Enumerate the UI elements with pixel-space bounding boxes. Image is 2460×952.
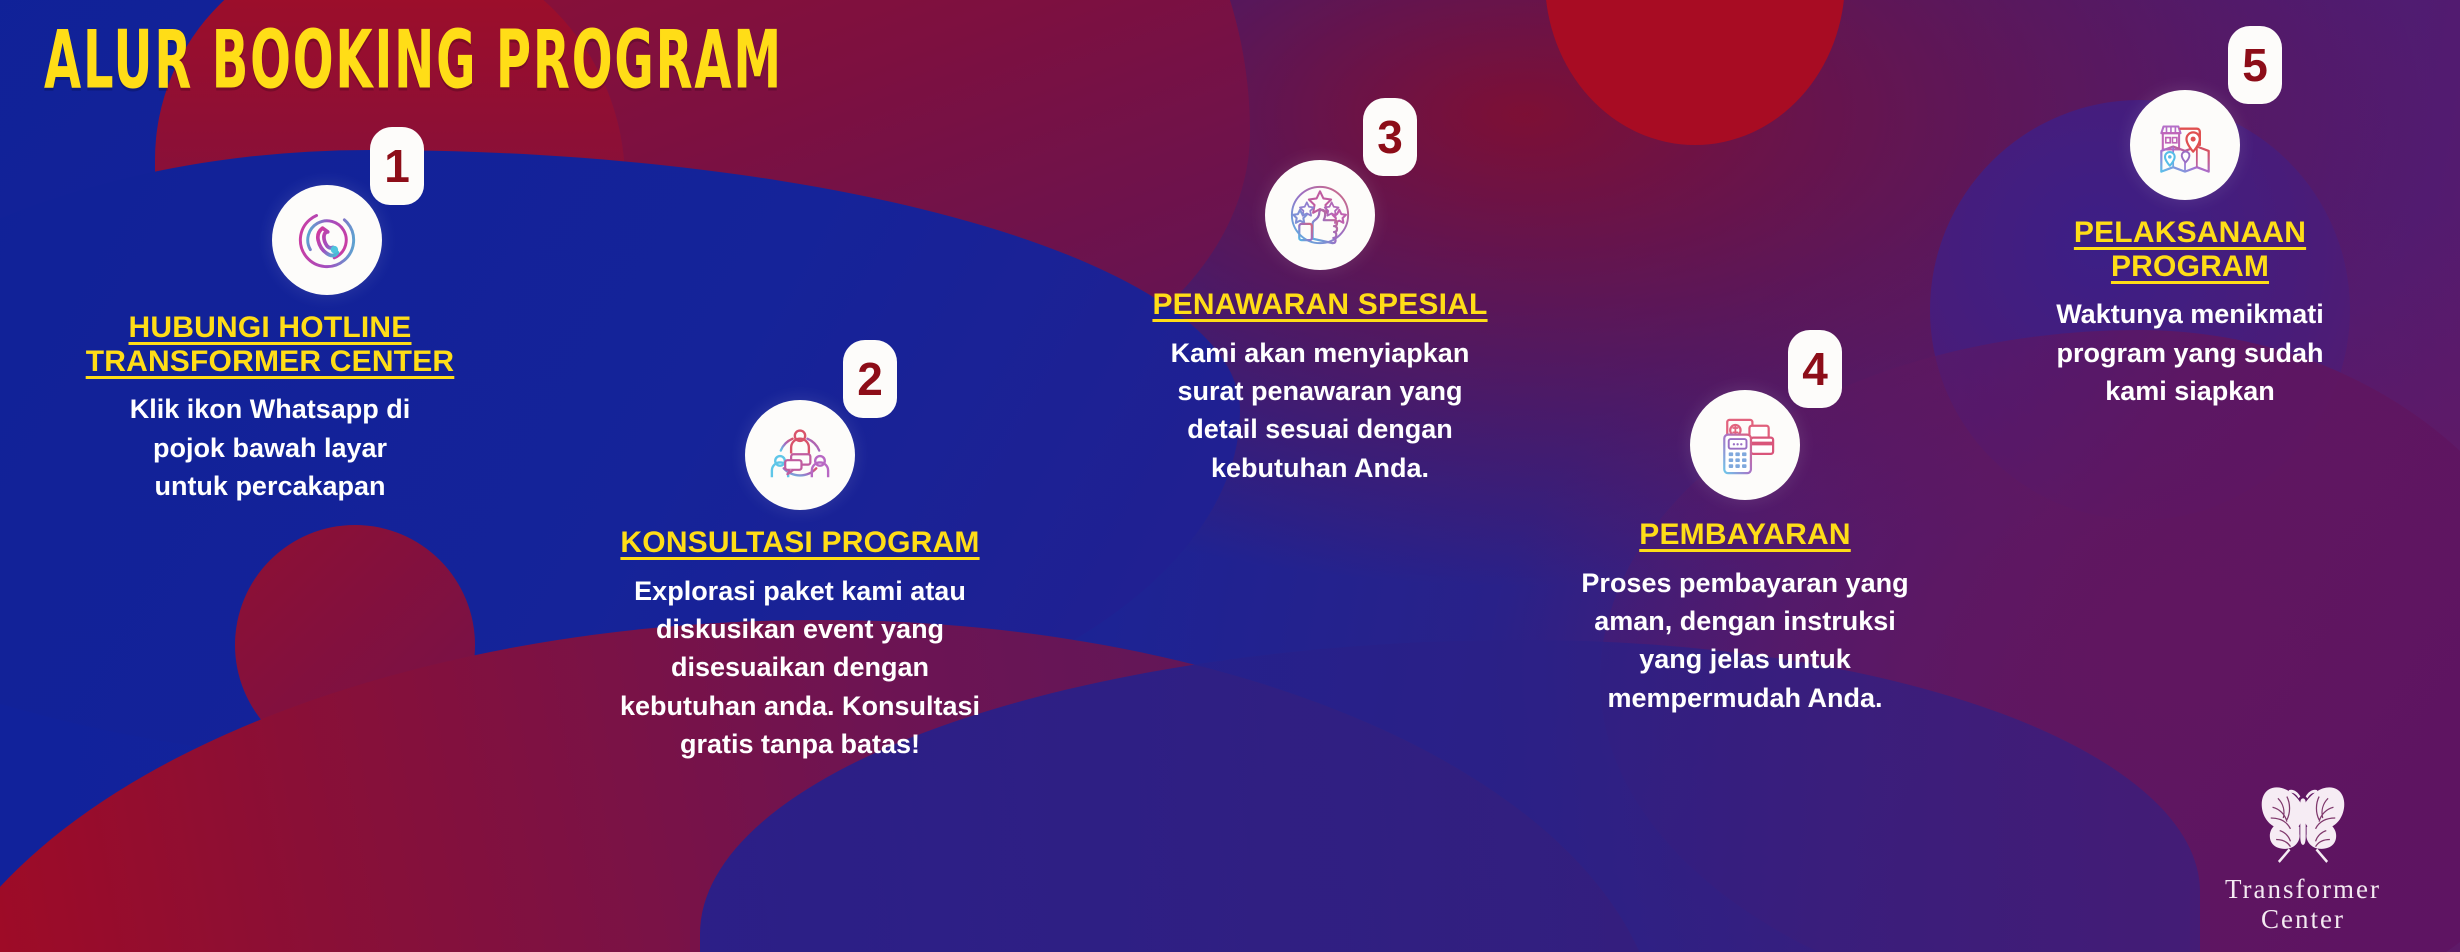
step-5: 5 PELAKSANAAN PROGRAM Waktunya menikmati… [1950,90,2430,410]
step-4-body-line-1: Proses pembayaran yang [1500,564,1990,602]
thumbs-up-stars-icon [1265,160,1375,270]
step-4-body: Proses pembayaran yang aman, dengan inst… [1500,564,1990,717]
step-4-heading-line-1: PEMBAYARAN [1500,518,1990,552]
step-4-text: PEMBAYARAN Proses pembayaran yang aman, … [1500,518,1990,717]
step-2-icon-wrap: 2 [745,400,855,510]
step-5-icon-wrap: 5 [2130,90,2240,200]
step-2-body: Explorasi paket kami atau diskusikan eve… [540,572,1060,764]
step-2: 2 KONSULTASI PROGRAM Explorasi paket kam… [540,400,1060,763]
step-5-heading-line-1: PELAKSANAAN [1950,216,2430,250]
step-3-text: PENAWARAN SPESIAL Kami akan menyiapkan s… [1075,288,1565,487]
consultation-people-icon [745,400,855,510]
step-3-body: Kami akan menyiapkan surat penawaran yan… [1075,334,1565,487]
step-1-body: Klik ikon Whatsapp di pojok bawah layar … [40,390,500,505]
step-5-number-badge: 5 [2228,26,2282,104]
step-5-text: PELAKSANAAN PROGRAM Waktunya menikmati p… [1950,216,2430,410]
step-1-number-badge: 1 [370,127,424,205]
step-3-body-line-2: surat penawaran yang [1075,372,1565,410]
step-4-body-line-2: aman, dengan instruksi [1500,602,1990,640]
step-3-icon-wrap: 3 [1265,160,1375,270]
step-4-heading: PEMBAYARAN [1500,518,1990,552]
step-4-number-badge: 4 [1788,330,1842,408]
step-1-heading: HUBUNGI HOTLINE TRANSFORMER CENTER [40,311,500,378]
step-4-body-line-3: yang jelas untuk [1500,640,1990,678]
brand-logo: Transformer Center [2188,784,2418,934]
step-1-heading-line-1: HUBUNGI HOTLINE [40,311,500,345]
step-2-body-line-3: disesuaikan dengan [540,648,1060,686]
step-3-number-badge: 3 [1363,98,1417,176]
step-1-body-line-1: Klik ikon Whatsapp di [40,390,500,428]
step-5-heading: PELAKSANAAN PROGRAM [1950,216,2430,283]
step-1-text: HUBUNGI HOTLINE TRANSFORMER CENTER Klik … [40,311,500,505]
step-3: 3 PENAWARAN SPESIAL Kami akan menyiapkan… [1075,160,1565,487]
step-1-icon-wrap: 1 [272,185,382,295]
step-4-icon-wrap: 4 [1690,390,1800,500]
step-1-heading-line-2: TRANSFORMER CENTER [40,345,500,379]
storefront-map-icon [2130,90,2240,200]
logo-line-2: Center [2188,904,2418,934]
phone-call-icon [272,185,382,295]
step-3-heading: PENAWARAN SPESIAL [1075,288,1565,322]
step-2-body-line-2: diskusikan event yang [540,610,1060,648]
step-4: 4 PEMBAYARAN Proses pembayaran yang aman… [1500,390,1990,717]
logo-line-1: Transformer [2188,874,2418,904]
page-title: ALUR BOOKING PROGRAM [44,20,783,100]
step-3-body-line-1: Kami akan menyiapkan [1075,334,1565,372]
step-5-body-line-3: kami siapkan [1950,372,2430,410]
step-1: 1 HUBUNGI HOTLINE TRANSFORMER CENTER Kli… [40,185,500,505]
step-5-body-line-2: program yang sudah [1950,334,2430,372]
step-5-body: Waktunya menikmati program yang sudah ka… [1950,295,2430,410]
step-2-body-line-1: Explorasi paket kami atau [540,572,1060,610]
step-2-number-badge: 2 [843,340,897,418]
step-5-heading-line-2: PROGRAM [1950,250,2430,284]
step-2-body-line-5: gratis tanpa batas! [540,725,1060,763]
step-2-body-line-4: kebutuhan anda. Konsultasi [540,687,1060,725]
infographic-canvas: ALUR BOOKING PROGRAM [0,0,2460,952]
step-2-text: KONSULTASI PROGRAM Explorasi paket kami … [540,526,1060,763]
butterfly-icon [2249,784,2357,870]
step-2-heading: KONSULTASI PROGRAM [540,526,1060,560]
step-4-body-line-4: mempermudah Anda. [1500,679,1990,717]
step-5-body-line-1: Waktunya menikmati [1950,295,2430,333]
step-1-body-line-2: pojok bawah layar [40,429,500,467]
step-1-body-line-3: untuk percakapan [40,467,500,505]
step-3-body-line-3: detail sesuai dengan [1075,410,1565,448]
step-2-heading-line-1: KONSULTASI PROGRAM [540,526,1060,560]
step-3-body-line-4: kebutuhan Anda. [1075,449,1565,487]
step-3-heading-line-1: PENAWARAN SPESIAL [1075,288,1565,322]
payment-terminal-icon [1690,390,1800,500]
